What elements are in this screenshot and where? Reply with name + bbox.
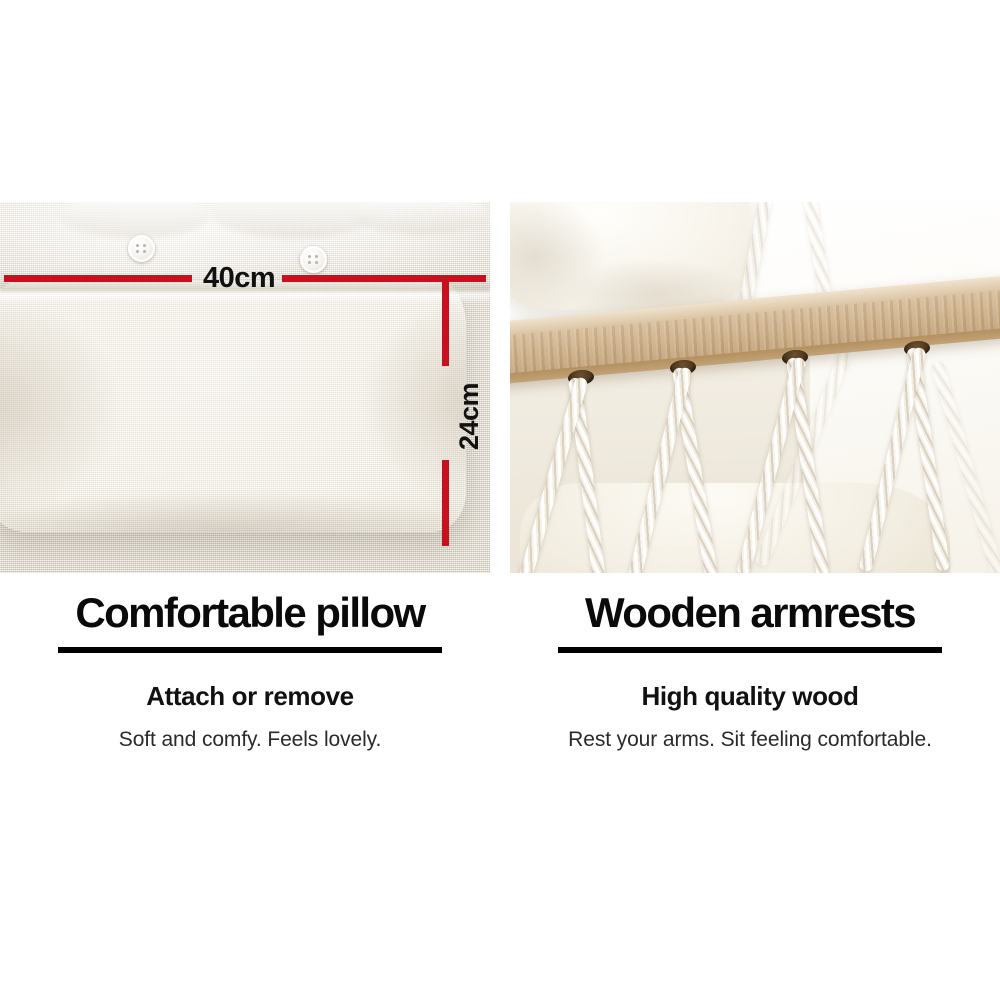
pillow-button bbox=[128, 235, 155, 262]
width-dimension-line-right bbox=[282, 275, 486, 282]
pillow-subhead: Attach or remove bbox=[0, 681, 500, 711]
armrests-headline: Wooden armrests bbox=[500, 590, 1000, 636]
pillow-button bbox=[300, 246, 327, 273]
height-dimension-line-top bbox=[442, 278, 449, 366]
caption-pillow: Comfortable pillow Attach or remove Soft… bbox=[0, 590, 500, 753]
width-dimension-line-left bbox=[4, 275, 192, 282]
height-dimension-label: 24cm bbox=[456, 383, 483, 450]
caption-row: Comfortable pillow Attach or remove Soft… bbox=[0, 590, 1000, 753]
pillow-headline: Comfortable pillow bbox=[0, 590, 500, 636]
armrests-subhead: High quality wood bbox=[500, 681, 1000, 711]
headline-rule bbox=[558, 647, 942, 653]
width-dimension-label: 40cm bbox=[203, 264, 275, 293]
back-cushion bbox=[510, 202, 750, 310]
pillow-photo: 40cm 24cm bbox=[0, 202, 490, 573]
armrest-photo bbox=[510, 202, 1000, 573]
headline-rule bbox=[58, 647, 442, 653]
armrests-blurb: Rest your arms. Sit feeling comfortable. bbox=[500, 727, 1000, 753]
pillow-cushion bbox=[0, 280, 466, 532]
product-feature-page: 40cm 24cm bbox=[0, 0, 1000, 1000]
photo-panel-row: 40cm 24cm bbox=[0, 202, 1000, 573]
caption-armrests: Wooden armrests High quality wood Rest y… bbox=[500, 590, 1000, 753]
height-dimension-line-bottom bbox=[442, 460, 449, 546]
pillow-blurb: Soft and comfy. Feels lovely. bbox=[0, 727, 500, 753]
